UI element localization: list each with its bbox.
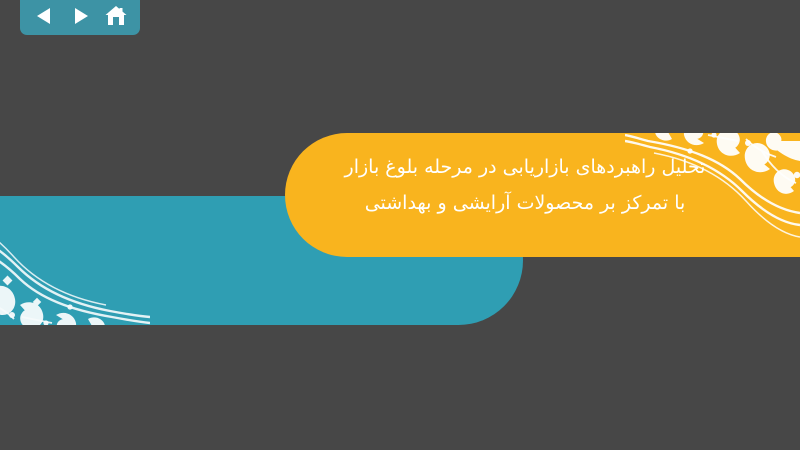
title-line-1: تحلیل راهبردهای بازاریابی در مرحله بلوغ … xyxy=(320,149,730,185)
orange-title-banner: تحلیل راهبردهای بازاریابی در مرحله بلوغ … xyxy=(285,133,800,257)
triangle-left-icon xyxy=(36,7,53,25)
previous-slide-button[interactable] xyxy=(29,3,59,29)
triangle-right-icon xyxy=(72,7,89,25)
title-line-2: با تمرکز بر محصولات آرایشی و بهداشتی xyxy=(320,185,730,221)
slide-title: تحلیل راهبردهای بازاریابی در مرحله بلوغ … xyxy=(320,149,730,221)
slide-navigation-bar xyxy=(20,0,140,35)
home-icon xyxy=(104,5,128,27)
teal-arabesque-ornament-icon xyxy=(0,205,150,325)
presentation-slide: تحلیل راهبردهای بازاریابی در مرحله بلوغ … xyxy=(0,0,800,450)
next-slide-button[interactable] xyxy=(65,3,95,29)
home-button[interactable] xyxy=(101,3,131,29)
